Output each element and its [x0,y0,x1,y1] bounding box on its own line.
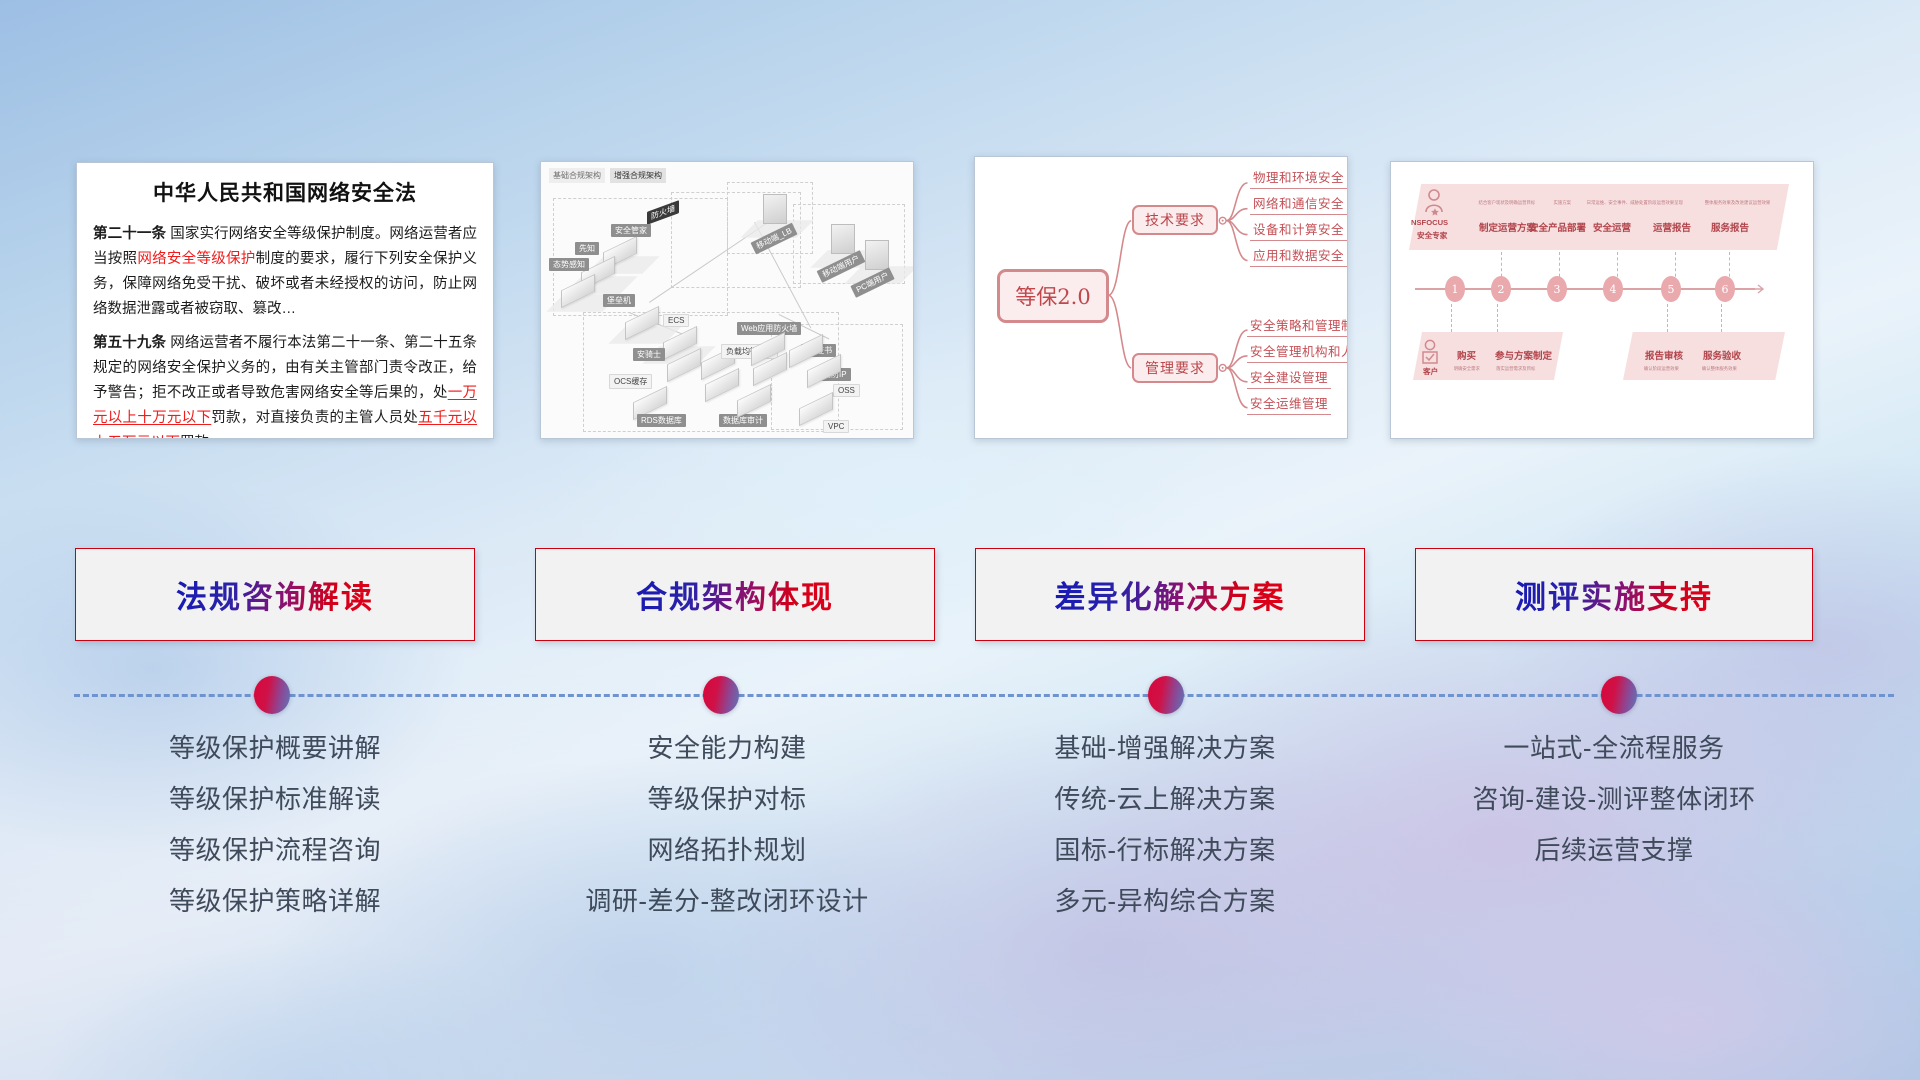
list-item: 等级保护概要讲解 [75,735,475,761]
thumbnail-card-law[interactable]: 中华人民共和国网络安全法 第二十一条 国家实行网络安全等级保护制度。网络运营者应… [76,162,494,439]
nsfocus-top-label-3: 安全运营 [1593,220,1631,234]
architecture-node-vpc: VPC [823,420,849,433]
nsfocus-top-sub-2: 实施方案 [1553,200,1570,206]
nsfocus-customer-label: 客户 [1423,366,1438,377]
list-item: 传统-云上解决方案 [965,786,1365,812]
detail-column-2: 安全能力构建 等级保护对标 网络拓扑规划 调研-差分-整改闭环设计 [527,735,927,939]
list-item: 等级保护对标 [527,786,927,812]
mindmap-leaf-t4: 应用和数据安全 [1250,245,1347,267]
nsfocus-step-dot-2: 2 [1491,276,1511,302]
nsfocus-bottom-label-4: 服务验收 [1703,348,1741,362]
nsfocus-expert-line1: NSFOCUS [1411,218,1448,227]
law-title: 中华人民共和国网络安全法 [93,177,477,207]
heading-label-3: 差异化解决方案 [1055,572,1286,617]
nsfocus-bottom-sub-2: 落实运营需求及目标 [1496,366,1535,372]
mindmap-branch-technical: 技术要求 [1132,205,1218,235]
mindmap-leaf-t1: 物理和环境安全 [1250,167,1347,189]
mindmap-root: 等保2.0 [997,269,1109,323]
nsfocus-top-label-2: 安全产品部署 [1529,220,1586,234]
nsfocus-top-sub-5: 整体服务效果及改进建议运营效果 [1705,200,1770,206]
nsfocus-top-sub-4: 阶段运营效果呈现 [1648,200,1683,206]
law-article-59-text-3: 罚款。 [180,435,224,440]
thumbnail-card-architecture[interactable]: 基础合规架构 增强合规架构 防火墙 安全管家 先知 态势感知 [540,161,914,439]
architecture-node-oss: OSS [833,384,860,397]
mindmap-leaf-t2: 网络和通信安全 [1250,193,1347,215]
list-item: 后续运营支撑 [1405,837,1823,863]
nsfocus-step-dot-3: 3 [1547,276,1567,302]
heading-row: 法规咨询解读 合规架构体现 差异化解决方案 测评实施支持 [0,548,1920,648]
timeline-dot-2[interactable] [703,676,739,714]
nsfocus-step-dot-5: 5 [1661,276,1681,302]
nsfocus-bottom-sub-4: 确认整体服务效果 [1702,366,1737,372]
list-item: 安全能力构建 [527,735,927,761]
architecture-node-db-audit: 数据库审计 [719,414,767,427]
nsfocus-top-label-1: 制定运营方案 [1479,220,1536,234]
heading-box-2[interactable]: 合规架构体现 [535,548,935,641]
list-item: 等级保护标准解读 [75,786,475,812]
law-article-59-text-2: 罚款，对直接负责的主管人员处 [211,410,418,426]
list-item: 咨询-建设-测评整体闭环 [1405,786,1823,812]
law-article-21-label: 第二十一条 [93,226,166,242]
law-article-59-label: 第五十九条 [93,335,166,351]
detail-column-4: 一站式-全流程服务 咨询-建设-测评整体闭环 后续运营支撑 [1405,735,1823,888]
list-item: 一站式-全流程服务 [1405,735,1823,761]
thumbnail-card-nsfocus-timeline[interactable]: NSFOCUS 安全专家 结合客户现状及明确运营目标 制定运营方案 实施方案 安… [1390,161,1814,439]
nsfocus-bottom-sub-3: 确认阶段运营效果 [1644,366,1679,372]
expert-avatar-icon [1419,188,1449,216]
nsfocus-top-label-5: 服务报告 [1711,220,1749,234]
law-document: 中华人民共和国网络安全法 第二十一条 国家实行网络安全等级保护制度。网络运营者应… [77,163,493,439]
architecture-node-anqishi: 安骑士 [633,348,665,361]
nsfocus-leader-9 [1721,304,1722,332]
nsfocus-expert-line2: 安全专家 [1417,230,1447,241]
nsfocus-bottom-label-3: 报告审核 [1645,348,1683,362]
architecture-tab-enhanced[interactable]: 增强合规架构 [610,168,666,183]
heading-box-1[interactable]: 法规咨询解读 [75,548,475,641]
mindmap-branch-management: 管理要求 [1132,353,1218,383]
list-item: 等级保护策略详解 [75,888,475,914]
mindmap-diagram: 等保2.0 技术要求 管理要求 物理和环境安全 网络和通信安全 设备和计算安全 … [975,157,1347,438]
heading-label-1: 法规咨询解读 [176,572,374,617]
customer-avatar-icon [1417,338,1443,364]
list-item: 国标-行标解决方案 [965,837,1365,863]
nsfocus-step-dot-6: 6 [1715,276,1735,302]
nsfocus-top-band [1409,184,1789,250]
heading-box-4[interactable]: 测评实施支持 [1415,548,1813,641]
nsfocus-bottom-label-2: 参与方案制定 [1495,348,1552,362]
list-item: 多元-异构综合方案 [965,888,1365,914]
thumbnail-row: 中华人民共和国网络安全法 第二十一条 国家实行网络安全等级保护制度。网络运营者应… [0,155,1920,445]
nsfocus-top-label-4: 运营报告 [1653,220,1691,234]
architecture-node-bastion: 堡垒机 [603,294,635,307]
timeline-dot-4[interactable] [1601,676,1637,714]
nsfocus-top-sub-3: 日常运维、安全事件、威胁处置 [1587,200,1648,206]
mindmap-leaf-t3: 设备和计算安全 [1250,219,1347,241]
architecture-node-ecs: ECS [663,314,689,327]
nsfocus-leader-6 [1451,304,1452,332]
nsfocus-bottom-sub-1: 明确安全需求 [1454,366,1480,372]
arrow-right-icon [1751,282,1767,296]
law-article-59: 第五十九条 网络运营者不履行本法第二十一条、第二十五条规定的网络安全保护义务的，… [93,331,477,439]
detail-column-1: 等级保护概要讲解 等级保护标准解读 等级保护流程咨询 等级保护策略详解 [75,735,475,939]
nsfocus-bottom-label-1: 购买 [1457,348,1476,362]
timeline-dot-1[interactable] [254,676,290,714]
mindmap-leaf-m1: 安全策略和管理制度 [1247,315,1348,337]
heading-label-4: 测评实施支持 [1515,572,1713,617]
law-article-21-highlight: 网络安全等级保护 [137,251,255,267]
nsfocus-leader-8 [1667,304,1668,332]
heading-label-2: 合规架构体现 [636,572,834,617]
timeline-divider [0,668,1920,722]
architecture-node-security-butler: 安全管家 [611,224,651,237]
nsfocus-step-dot-1: 1 [1445,276,1465,302]
nsfocus-axis-line [1415,288,1755,290]
nsfocus-timeline: NSFOCUS 安全专家 结合客户现状及明确运营目标 制定运营方案 实施方案 安… [1391,162,1813,438]
timeline-dot-3[interactable] [1148,676,1184,714]
mindmap-leaf-m4: 安全运维管理 [1247,393,1331,415]
architecture-node-xianzhi: 先知 [575,242,599,255]
architecture-node-situational-awareness: 态势感知 [549,258,589,271]
thumbnail-card-mindmap[interactable]: 等保2.0 技术要求 管理要求 物理和环境安全 网络和通信安全 设备和计算安全 … [974,156,1348,439]
architecture-tabs: 基础合规架构 增强合规架构 [549,168,666,183]
list-item: 调研-差分-整改闭环设计 [527,888,927,914]
nsfocus-leader-7 [1497,304,1498,332]
architecture-node-icon-16 [831,224,855,254]
list-item: 网络拓扑规划 [527,837,927,863]
architecture-node-icon-15 [763,194,787,224]
law-article-21: 第二十一条 国家实行网络安全等级保护制度。网络运营者应当按照网络安全等级保护制度… [93,222,477,322]
heading-box-3[interactable]: 差异化解决方案 [975,548,1365,641]
architecture-node-rds: RDS数据库 [637,414,686,427]
list-item: 等级保护流程咨询 [75,837,475,863]
architecture-node-waf: Web应用防火墙 [737,322,801,335]
nsfocus-step-dot-4: 4 [1603,276,1623,302]
nsfocus-top-sub-1: 结合客户现状及明确运营目标 [1478,200,1535,206]
mindmap-leaf-m3: 安全建设管理 [1247,367,1331,389]
detail-column-3: 基础-增强解决方案 传统-云上解决方案 国标-行标解决方案 多元-异构综合方案 [965,735,1365,939]
architecture-node-icon-17 [865,240,889,270]
mindmap-leaf-m2: 安全管理机构和人员 [1247,341,1348,363]
architecture-node-ocs: OCS缓存 [609,374,652,389]
architecture-tab-basic[interactable]: 基础合规架构 [549,168,605,183]
detail-columns: 等级保护概要讲解 等级保护标准解读 等级保护流程咨询 等级保护策略详解 安全能力… [0,735,1920,985]
list-item: 基础-增强解决方案 [965,735,1365,761]
architecture-diagram: 基础合规架构 增强合规架构 防火墙 安全管家 先知 态势感知 [541,162,913,438]
